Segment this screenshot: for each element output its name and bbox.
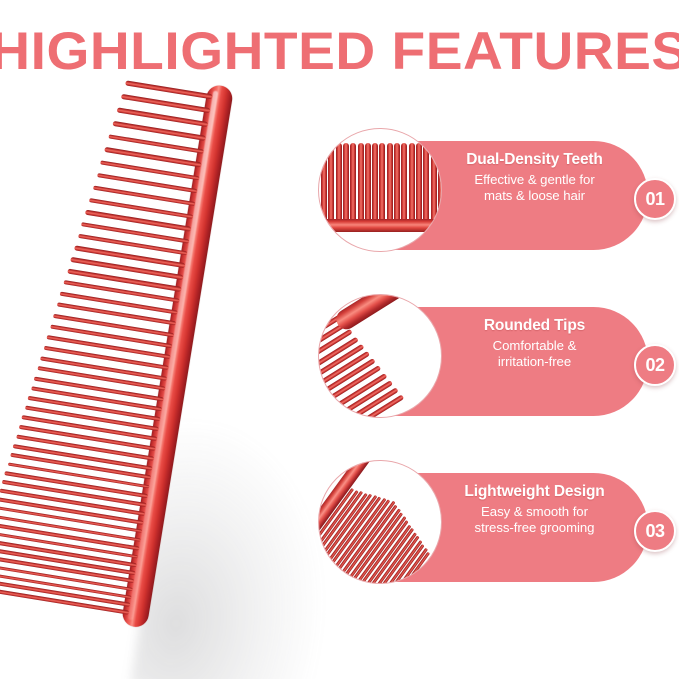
feature-row-1: Dual-Density Teeth Effective & gentle fo… <box>312 126 679 276</box>
lens-tooth <box>409 143 415 223</box>
feature-3-subtitle-line2: stress-free grooming <box>442 520 627 536</box>
feature-2-number-badge: 02 <box>634 344 676 386</box>
feature-row-2: Rounded Tips Comfortable & irritation-fr… <box>312 292 679 442</box>
lens-tooth <box>350 143 356 223</box>
lens-tooth <box>343 143 349 223</box>
lens-tooth <box>394 143 400 223</box>
feature-3-subtitle: Easy & smooth for stress-free grooming <box>442 504 627 536</box>
lens-tooth <box>321 143 327 223</box>
feature-2-subtitle-line1: Comfortable & <box>442 338 627 354</box>
lens-tooth <box>401 143 407 223</box>
lens-spine <box>318 219 442 232</box>
feature-3-title: Lightweight Design <box>442 482 627 501</box>
lens-tooth <box>416 143 422 223</box>
lens-tooth <box>423 143 429 223</box>
comb-tooth <box>57 303 176 326</box>
lens-tooth <box>379 143 385 223</box>
feature-2-text: Rounded Tips Comfortable & irritation-fr… <box>442 316 627 370</box>
lens-tooth <box>431 143 437 223</box>
comb-tooth <box>53 313 174 337</box>
comb-graphic <box>0 35 324 669</box>
feature-1-subtitle: Effective & gentle for mats & loose hair <box>442 172 627 204</box>
lens-spine-rounded-tip <box>333 294 442 333</box>
feature-1-title: Dual-Density Teeth <box>442 150 627 169</box>
feature-1-subtitle-line2: mats & loose hair <box>442 188 627 204</box>
feature-1-subtitle-line1: Effective & gentle for <box>442 172 627 188</box>
feature-1-lens-closeup-icon <box>318 128 442 252</box>
product-image-comb <box>0 70 320 660</box>
feature-2-subtitle: Comfortable & irritation-free <box>442 338 627 370</box>
feature-3-number-badge: 03 <box>634 510 676 552</box>
feature-2-title: Rounded Tips <box>442 316 627 335</box>
feature-1-number-badge: 01 <box>634 178 676 220</box>
lens-tooth <box>387 143 393 223</box>
lens-tooth <box>372 143 378 223</box>
lens-tooth <box>328 143 334 223</box>
feature-2-lens-closeup-icon <box>318 294 442 418</box>
lens-tooth <box>336 143 342 223</box>
lens-tooth <box>365 143 371 223</box>
feature-2-subtitle-line2: irritation-free <box>442 354 627 370</box>
feature-3-lens-closeup-icon <box>318 460 442 584</box>
feature-1-text: Dual-Density Teeth Effective & gentle fo… <box>442 150 627 204</box>
feature-row-3: Lightweight Design Easy & smooth for str… <box>312 458 679 608</box>
feature-3-subtitle-line1: Easy & smooth for <box>442 504 627 520</box>
lens-tooth <box>358 143 364 223</box>
infographic-canvas: HIGHLIGHTED FEATURES Dual-Density Teeth … <box>0 0 679 679</box>
feature-3-text: Lightweight Design Easy & smooth for str… <box>442 482 627 536</box>
